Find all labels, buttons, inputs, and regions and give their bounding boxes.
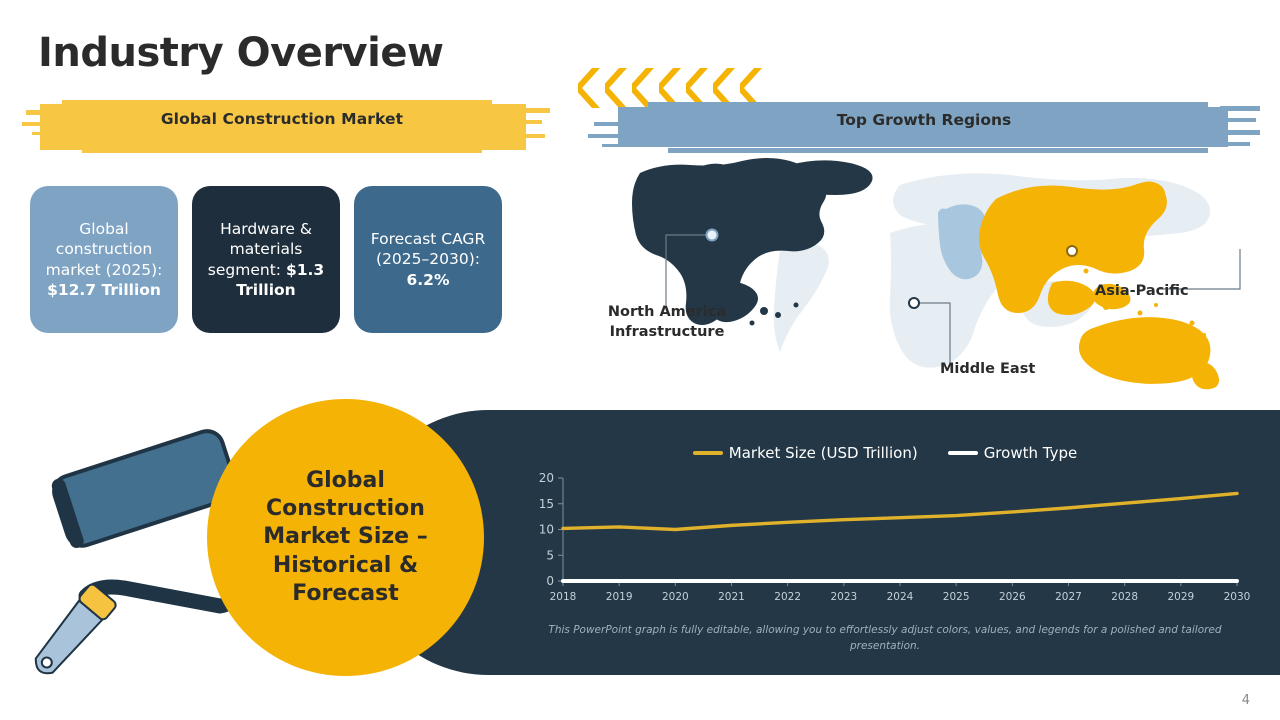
brush-streak	[668, 148, 1208, 153]
map-label-line1: Asia-Pacific	[1095, 282, 1189, 302]
map-label-line1: Middle East	[940, 360, 1035, 380]
stat-card-global-construction-market[interactable]: Global construction market (2025): $12.7…	[30, 186, 178, 333]
stat-card-text: Forecast CAGR (2025–2030):	[371, 230, 485, 268]
right-banner-label: Top Growth Regions	[588, 111, 1260, 129]
legend-swatch-growth-type	[948, 451, 978, 455]
chart-footnote: This PowerPoint graph is fully editable,…	[515, 623, 1255, 655]
svg-text:10: 10	[539, 523, 554, 537]
svg-text:2018: 2018	[550, 591, 577, 603]
chart-legend: Market Size (USD Trillion) Growth Type	[515, 440, 1255, 466]
map-label-middle-east: Middle East	[940, 360, 1035, 380]
svg-text:2021: 2021	[718, 591, 745, 603]
brush-streak	[648, 102, 1208, 107]
stat-card-hardware-materials-segment[interactable]: Hardware & materials segment: $1.3 Trill…	[192, 186, 340, 333]
global-construction-market-banner: Global Construction Market	[22, 96, 542, 158]
svg-text:2030: 2030	[1224, 591, 1251, 603]
legend-label-growth-type: Growth Type	[984, 444, 1078, 462]
map-label-north-america: North America Infrastructure	[602, 303, 732, 342]
legend-label-market-size: Market Size (USD Trillion)	[729, 444, 918, 462]
chart-plot-area: 0510152020182019202020212022202320242025…	[515, 472, 1255, 607]
market-size-chart: Market Size (USD Trillion) Growth Type 0…	[515, 440, 1255, 665]
svg-text:2022: 2022	[774, 591, 801, 603]
brush-streak	[82, 148, 482, 153]
map-marker-north-america[interactable]	[707, 230, 718, 241]
map-label-line1: North America	[602, 303, 732, 323]
svg-text:2028: 2028	[1111, 591, 1138, 603]
svg-text:2025: 2025	[943, 591, 970, 603]
legend-item-market-size[interactable]: Market Size (USD Trillion)	[693, 444, 918, 462]
page-number: 4	[1242, 693, 1250, 708]
map-marker-middle-east[interactable]	[909, 298, 919, 308]
brush-streak	[517, 134, 545, 138]
stat-card-forecast-cagr[interactable]: Forecast CAGR (2025–2030): 6.2%	[354, 186, 502, 333]
brush-streak	[1218, 130, 1260, 135]
svg-text:0: 0	[546, 574, 554, 588]
map-marker-asia-pacific[interactable]	[1067, 246, 1077, 256]
brush-streak	[62, 100, 492, 105]
chart-circle-title: Global Construction Market Size – Histor…	[246, 467, 446, 608]
svg-text:15: 15	[539, 497, 554, 511]
world-map-svg	[600, 155, 1270, 405]
map-region-north-america	[632, 158, 873, 326]
roller-handle-icon	[27, 583, 118, 682]
map-label-line2: Infrastructure	[602, 323, 732, 343]
stat-card-value: 6.2%	[407, 271, 450, 289]
svg-text:2023: 2023	[830, 591, 857, 603]
stat-card-value: $12.7 Trillion	[47, 281, 161, 299]
svg-text:2019: 2019	[606, 591, 633, 603]
left-banner-label: Global Construction Market	[22, 110, 542, 128]
chart-svg: 0510152020182019202020212022202320242025…	[515, 472, 1255, 607]
svg-text:5: 5	[546, 548, 554, 562]
page-title: Industry Overview	[38, 30, 443, 76]
map-label-asia-pacific: Asia-Pacific	[1095, 282, 1189, 302]
legend-swatch-market-size	[693, 451, 723, 455]
top-growth-regions-banner: Top Growth Regions	[588, 100, 1260, 156]
chart-title-circle: Global Construction Market Size – Histor…	[207, 399, 484, 676]
legend-item-growth-type[interactable]: Growth Type	[948, 444, 1078, 462]
stat-card-text: Global construction market (2025):	[46, 220, 163, 279]
svg-text:2024: 2024	[887, 591, 914, 603]
svg-text:2026: 2026	[999, 591, 1026, 603]
svg-text:2020: 2020	[662, 591, 689, 603]
brush-streak	[1222, 142, 1250, 146]
slide-canvas: Industry Overview Global Construction Ma…	[0, 0, 1280, 720]
stat-cards-row: Global construction market (2025): $12.7…	[30, 186, 502, 333]
world-map: North America Infrastructure Middle East…	[600, 155, 1270, 405]
svg-text:20: 20	[539, 472, 554, 485]
svg-text:2027: 2027	[1055, 591, 1082, 603]
svg-text:2029: 2029	[1167, 591, 1194, 603]
